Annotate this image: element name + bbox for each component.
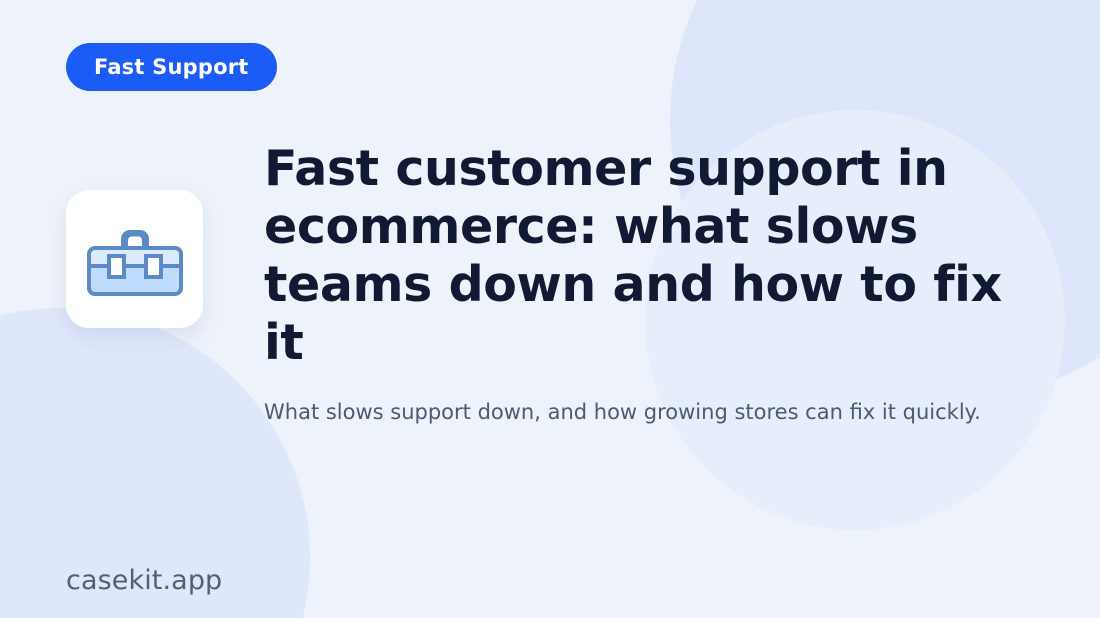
page-subtitle: What slows support down, and how growing… [264, 396, 1024, 429]
hero-card: Fast Support Fast customer support [0, 0, 1100, 618]
page-title: Fast customer support in ecommerce: what… [264, 140, 1024, 372]
briefcase-icon [83, 207, 187, 311]
text-column: Fast customer support in ecommerce: what… [264, 140, 1024, 429]
site-name-footer: casekit.app [66, 565, 222, 596]
briefcase-icon-tile [66, 190, 203, 328]
category-badge[interactable]: Fast Support [66, 43, 277, 91]
